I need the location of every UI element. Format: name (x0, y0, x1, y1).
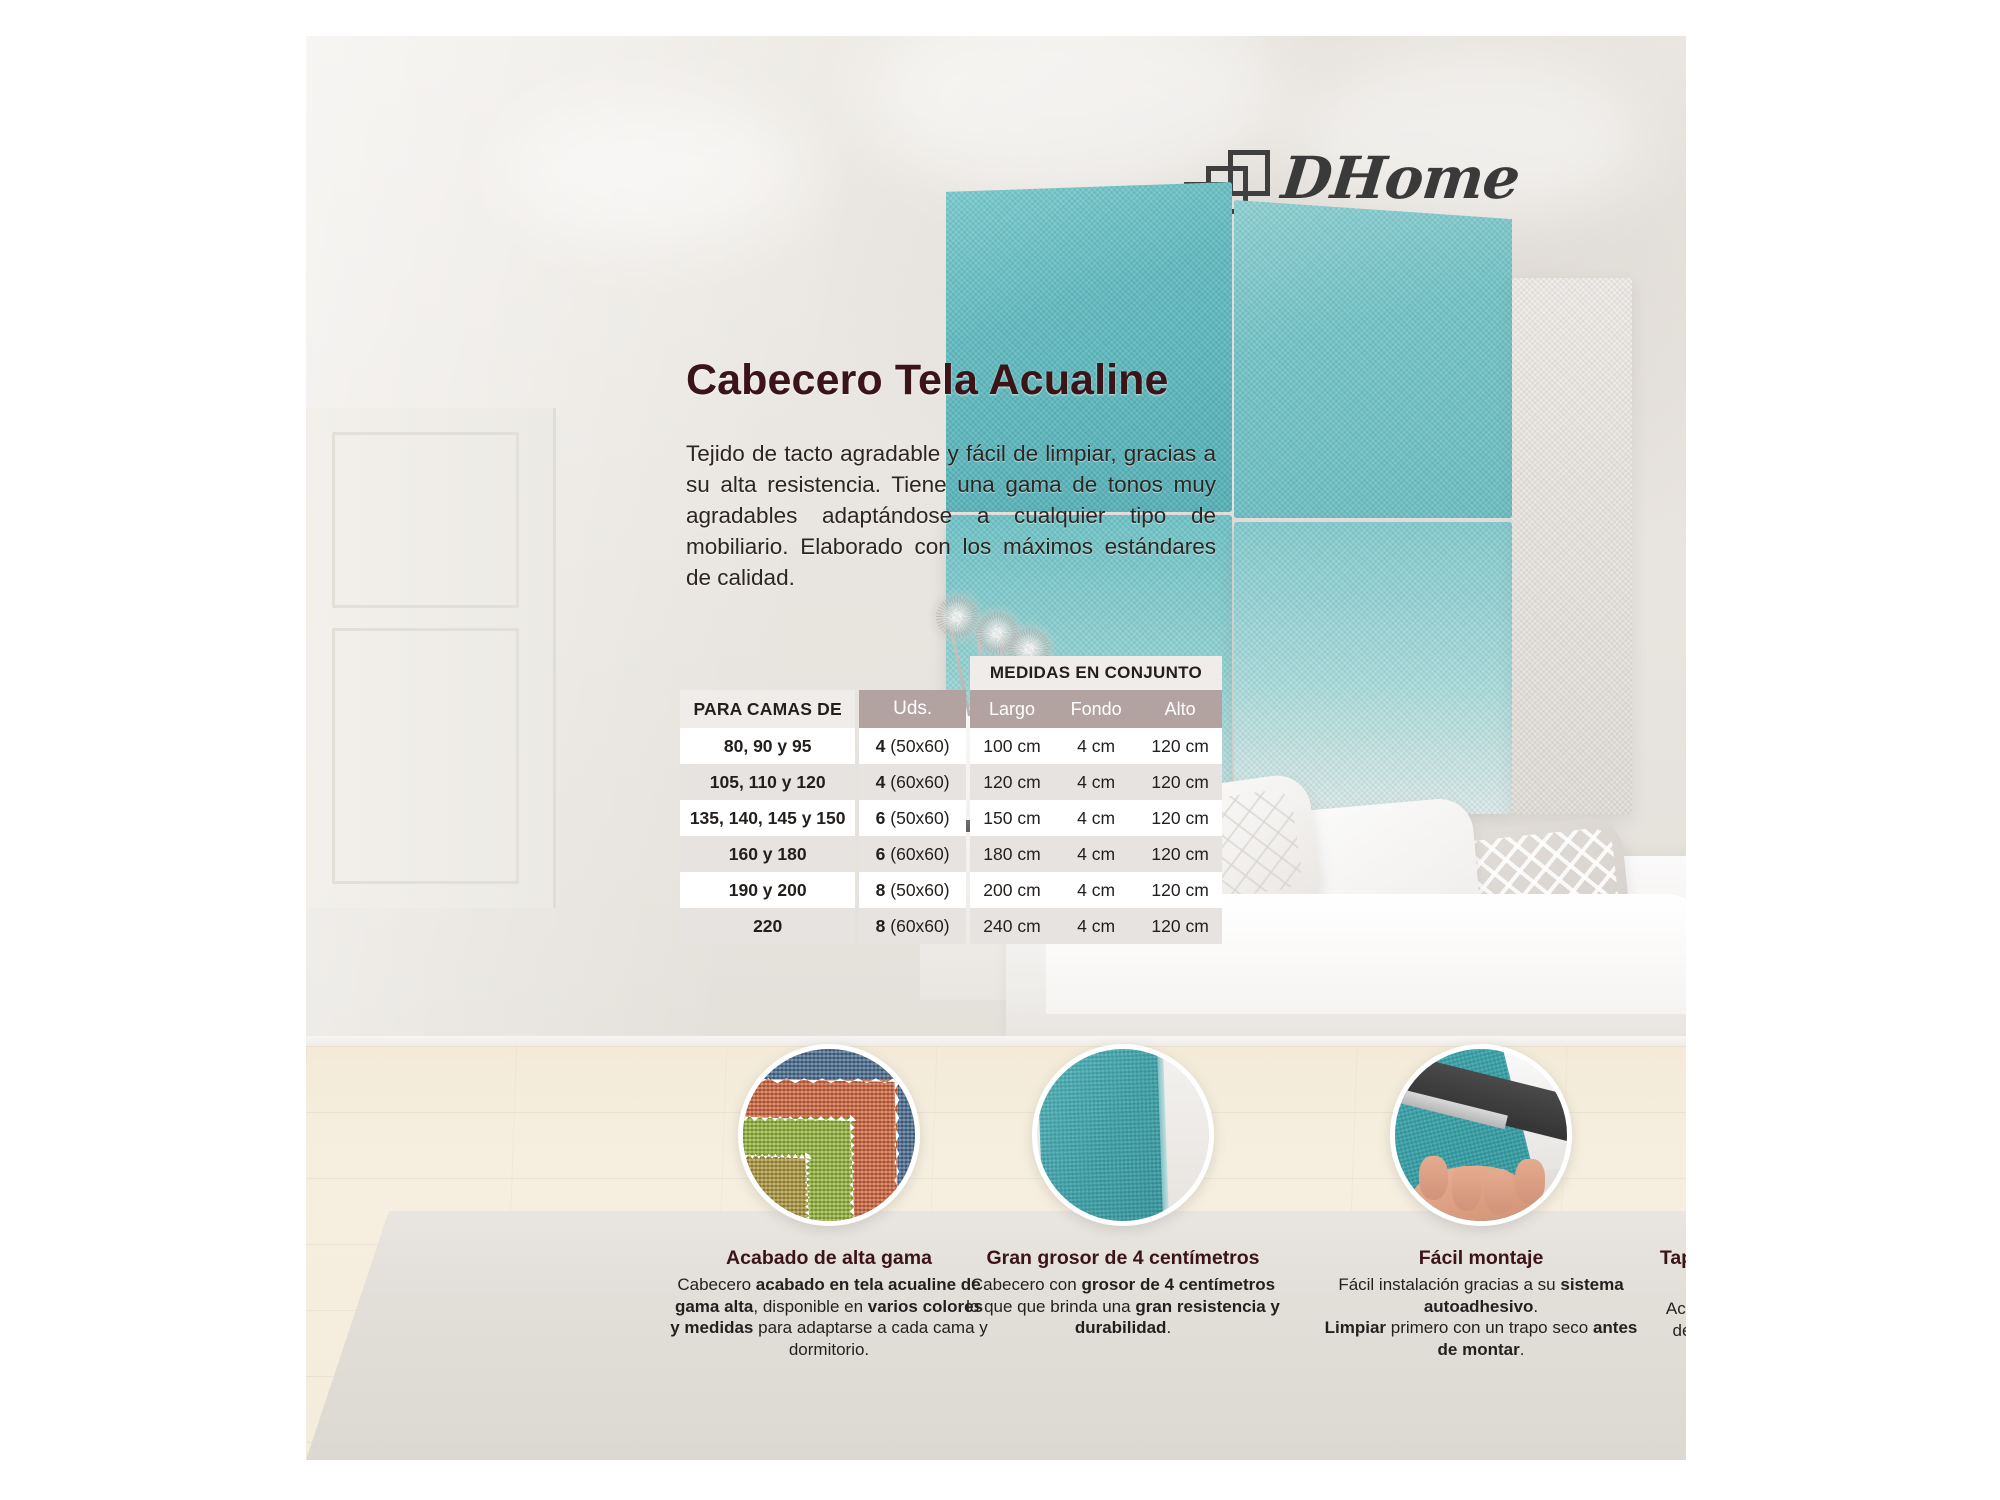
product-description: Tejido de tacto agradable y fácil de lim… (686, 438, 1216, 593)
cell-largo: 240 cm (970, 908, 1054, 944)
feature-tapizado-acualine: Tapizado en tela acualine de gama alta A… (1654, 1044, 1686, 1363)
cell-beds: 220 (680, 908, 855, 944)
cell-alto: 120 cm (1138, 728, 1222, 764)
cell-largo: 120 cm (970, 764, 1054, 800)
fabric-swatches-icon (738, 1044, 920, 1226)
cell-beds: 160 y 180 (680, 836, 855, 872)
cell-alto: 120 cm (1138, 800, 1222, 836)
feature-title: Tapizado en tela acualine de gama alta (1654, 1246, 1686, 1294)
table-column-header-row: PARA CAMAS DE Uds. Largo Fondo Alto (680, 690, 1222, 728)
cell-beds: 105, 110 y 120 (680, 764, 855, 800)
column-header-fondo: Fondo (1054, 690, 1138, 728)
panel-bottom-right (1234, 522, 1512, 814)
group-header-spacer (859, 656, 966, 690)
group-header-medidas: MEDIDAS EN CONJUNTO (970, 656, 1222, 690)
cell-units: 6 (60x60) (859, 836, 966, 872)
feature-body: Acabado en tela acualine antimanchas de … (1654, 1298, 1686, 1363)
column-header-largo: Largo (970, 690, 1054, 728)
table-row: 190 y 2008 (50x60)200 cm4 cm120 cm (680, 872, 1222, 908)
table-row: 135, 140, 145 y 1506 (50x60)150 cm4 cm12… (680, 800, 1222, 836)
column-header-beds: PARA CAMAS DE (680, 690, 855, 728)
room-scene: DHome Cabecero Tela (306, 36, 1686, 1460)
table-body: 80, 90 y 954 (50x60)100 cm4 cm120 cm105,… (680, 728, 1222, 944)
feature-facil-montaje: Fácil montaje Fácil instalación gracias … (1316, 1044, 1646, 1360)
cell-largo: 200 cm (970, 872, 1054, 908)
table-row: 2208 (60x60)240 cm4 cm120 cm (680, 908, 1222, 944)
cell-alto: 120 cm (1138, 764, 1222, 800)
cell-largo: 150 cm (970, 800, 1054, 836)
feature-title: Fácil montaje (1316, 1246, 1646, 1270)
cell-fondo: 4 cm (1054, 872, 1138, 908)
page-title: Cabecero Tela Acualine (686, 356, 1169, 405)
panel-white-side (1512, 278, 1632, 814)
cell-units: 4 (60x60) (859, 764, 966, 800)
cell-alto: 120 cm (1138, 836, 1222, 872)
cell-fondo: 4 cm (1054, 836, 1138, 872)
cell-beds: 190 y 200 (680, 872, 855, 908)
specifications-table: MEDIDAS EN CONJUNTO PARA CAMAS DE Uds. L… (680, 656, 1222, 944)
group-header-spacer (680, 656, 855, 690)
cell-units: 8 (50x60) (859, 872, 966, 908)
cell-alto: 120 cm (1138, 908, 1222, 944)
cell-largo: 180 cm (970, 836, 1054, 872)
table-group-header-row: MEDIDAS EN CONJUNTO (680, 656, 1222, 690)
cell-largo: 100 cm (970, 728, 1054, 764)
cell-beds: 135, 140, 145 y 150 (680, 800, 855, 836)
cell-fondo: 4 cm (1054, 728, 1138, 764)
feature-body: Cabecero con grosor de 4 centímetros lo … (958, 1274, 1288, 1339)
feature-body: Fácil instalación gracias a su sistema a… (1316, 1274, 1646, 1360)
wall-texture-cloud (506, 96, 806, 246)
wall-molding (306, 408, 556, 908)
feature-acabado-alta-gama: Acabado de alta gama Cabecero acabado en… (664, 1044, 994, 1360)
feature-title: Acabado de alta gama (664, 1246, 994, 1270)
cell-units: 4 (50x60) (859, 728, 966, 764)
cell-units: 8 (60x60) (859, 908, 966, 944)
column-header-units: Uds. (859, 690, 966, 728)
cell-units: 6 (50x60) (859, 800, 966, 836)
table-row: 160 y 1806 (60x60)180 cm4 cm120 cm (680, 836, 1222, 872)
cell-fondo: 4 cm (1054, 800, 1138, 836)
feature-gran-grosor: Gran grosor de 4 centímetros Cabecero co… (958, 1044, 1288, 1339)
hand-mounting-icon (1390, 1044, 1572, 1226)
panel-thickness-icon (1032, 1044, 1214, 1226)
panel-top-right (1234, 200, 1512, 518)
table-row: 105, 110 y 1204 (60x60)120 cm4 cm120 cm (680, 764, 1222, 800)
cell-beds: 80, 90 y 95 (680, 728, 855, 764)
product-infographic: DHome Cabecero Tela (0, 0, 2000, 1500)
feature-title: Gran grosor de 4 centímetros (958, 1246, 1288, 1270)
cell-alto: 120 cm (1138, 872, 1222, 908)
cell-fondo: 4 cm (1054, 908, 1138, 944)
feature-body: Cabecero acabado en tela acualine de gam… (664, 1274, 994, 1360)
table-row: 80, 90 y 954 (50x60)100 cm4 cm120 cm (680, 728, 1222, 764)
cell-fondo: 4 cm (1054, 764, 1138, 800)
column-header-alto: Alto (1138, 690, 1222, 728)
